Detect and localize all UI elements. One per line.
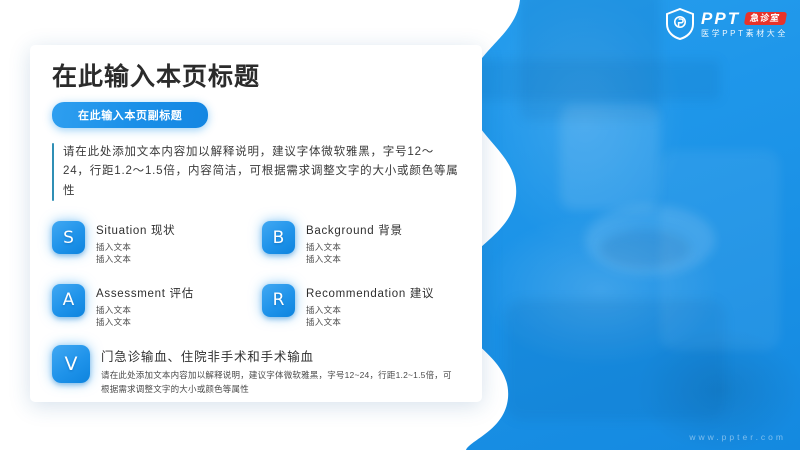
item-line-1: 插入文本 <box>306 304 434 316</box>
item-line-2: 插入文本 <box>96 316 194 328</box>
item-title: Situation 现状 <box>96 222 175 238</box>
logo-subtitle: 医学PPT素材大全 <box>701 30 788 38</box>
item-title: Background 背景 <box>306 222 403 238</box>
wide-item-description: 请在此处添加文本内容加以解释说明，建议字体微软雅黑，字号12~24，行距1.2~… <box>101 369 460 395</box>
content-card: 在此输入本页标题 在此输入本页副标题 请在此处添加文本内容加以解释说明，建议字体… <box>30 45 482 402</box>
paragraph-accent-bar <box>52 143 54 202</box>
logo-badge: 急诊室 <box>744 12 787 25</box>
item-line-1: 插入文本 <box>96 241 175 253</box>
intro-paragraph: 请在此处添加文本内容加以解释说明，建议字体微软雅黑，字号12～24，行距1.2～… <box>63 143 460 202</box>
item-line-1: 插入文本 <box>306 241 403 253</box>
sbar-item-recommendation[interactable]: R Recommendation 建议 插入文本 插入文本 <box>262 284 460 329</box>
shield-icon <box>665 8 695 40</box>
item-line-2: 插入文本 <box>306 253 403 265</box>
item-line-2: 插入文本 <box>306 316 434 328</box>
item-line-1: 插入文本 <box>96 304 194 316</box>
letter-tile-a: A <box>52 284 85 317</box>
page-subtitle-pill: 在此输入本页副标题 <box>52 102 208 128</box>
item-line-2: 插入文本 <box>96 253 175 265</box>
slide-canvas: PPT 急诊室 医学PPT素材大全 www.ppter.com 在此输入本页标题… <box>0 0 800 450</box>
letter-tile-s: S <box>52 221 85 254</box>
sbar-item-situation[interactable]: S Situation 现状 插入文本 插入文本 <box>52 221 250 266</box>
item-title: Recommendation 建议 <box>306 285 434 301</box>
sbar-item-transfusion[interactable]: V 门急诊输血、住院非手术和手术输血 请在此处添加文本内容加以解释说明，建议字体… <box>52 345 460 395</box>
wide-item-title: 门急诊输血、住院非手术和手术输血 <box>101 346 460 365</box>
letter-tile-b: B <box>262 221 295 254</box>
logo-main-text: PPT <box>701 10 740 27</box>
item-title: Assessment 评估 <box>96 285 194 301</box>
intro-paragraph-block: 请在此处添加文本内容加以解释说明，建议字体微软雅黑，字号12～24，行距1.2～… <box>52 143 460 202</box>
sbar-item-background[interactable]: B Background 背景 插入文本 插入文本 <box>262 221 460 266</box>
page-title: 在此输入本页标题 <box>52 63 460 91</box>
site-watermark: www.ppter.com <box>689 432 786 442</box>
letter-tile-v: V <box>52 345 90 383</box>
letter-tile-r: R <box>262 284 295 317</box>
sbar-item-assessment[interactable]: A Assessment 评估 插入文本 插入文本 <box>52 284 250 329</box>
brand-logo[interactable]: PPT 急诊室 医学PPT素材大全 <box>665 8 788 40</box>
sbar-grid: S Situation 现状 插入文本 插入文本 B Background 背景… <box>52 221 460 328</box>
